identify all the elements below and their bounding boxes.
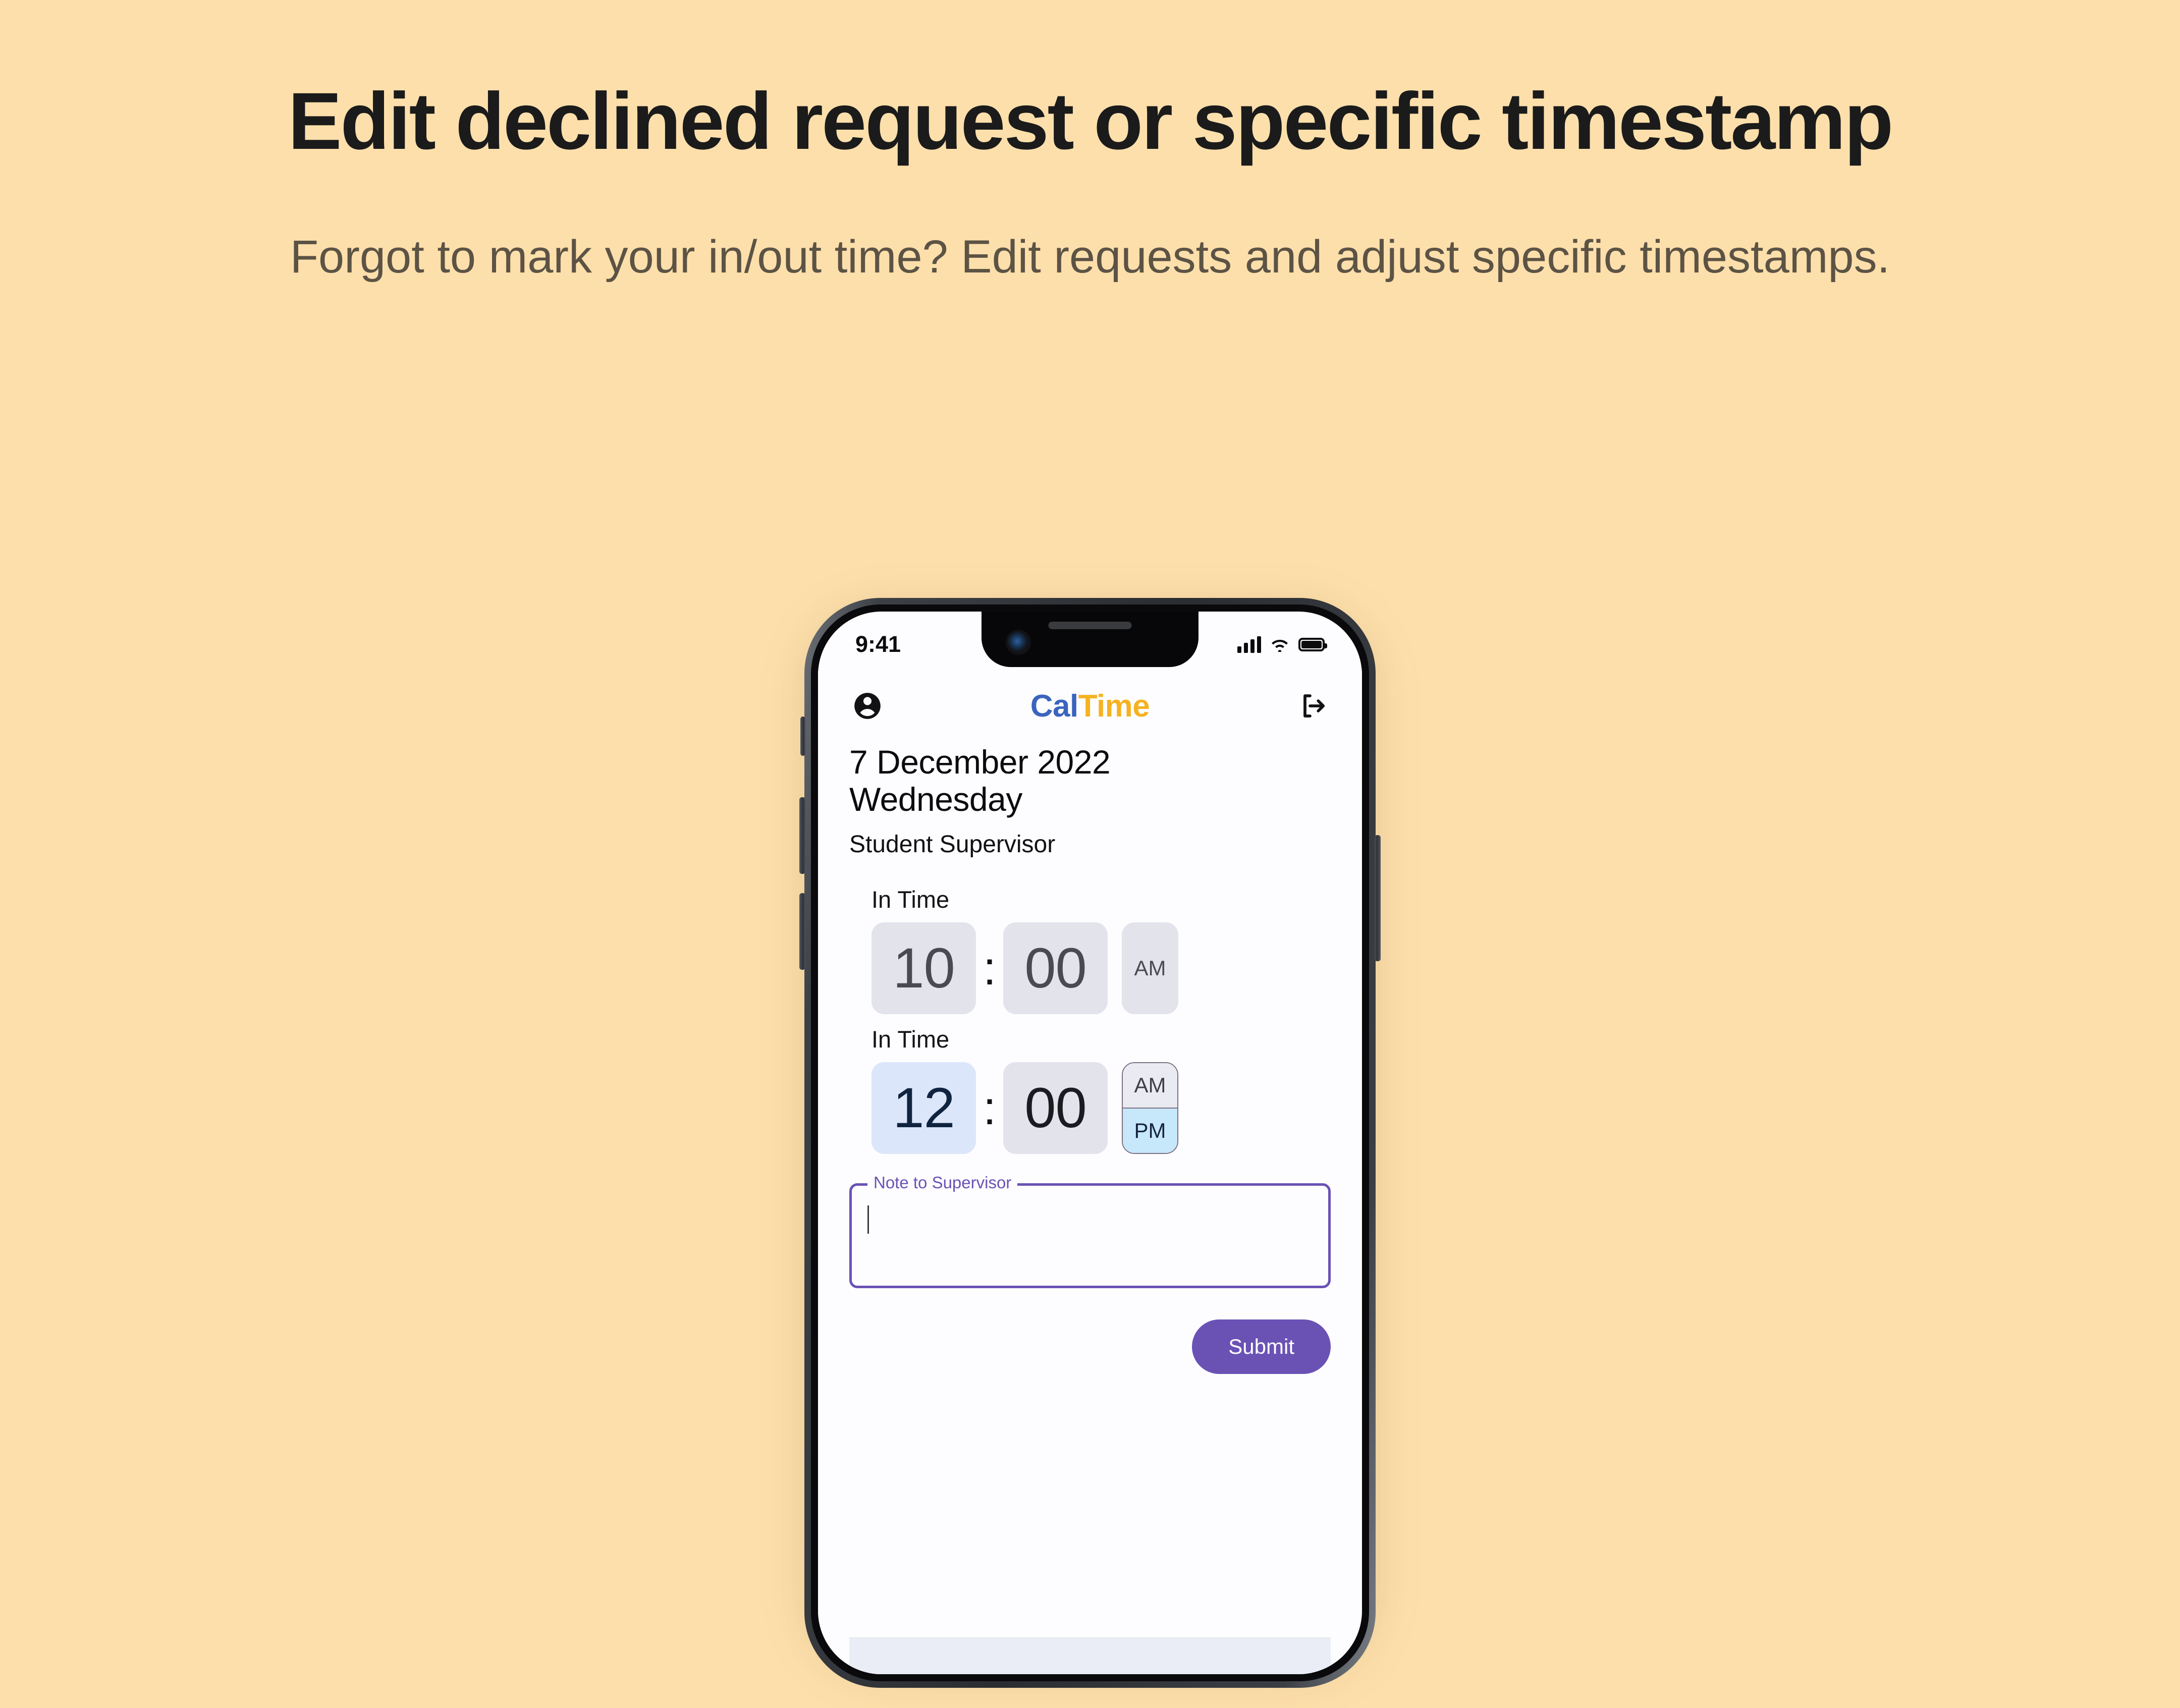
app-content: 7 December 2022 Wednesday Student Superv… [818, 744, 1362, 1674]
time-separator-2: : [976, 1089, 1003, 1127]
phone-mockup: 9:41 [804, 598, 1376, 1708]
hour-field-1[interactable]: 10 [871, 922, 976, 1014]
note-field-outline [849, 1183, 1331, 1288]
battery-full-icon [1298, 638, 1325, 651]
app-bar: CalTime [818, 668, 1362, 744]
time-entry-label-1: In Time [871, 886, 1331, 913]
phone-screen: 9:41 [818, 612, 1362, 1674]
logout-icon[interactable] [1294, 688, 1331, 724]
signal-bars-icon [1237, 636, 1261, 653]
time-picker-2: 12 : 00 AM PM [871, 1062, 1331, 1154]
status-bar: 9:41 [818, 612, 1362, 668]
meridiem-field-1[interactable]: AM [1122, 922, 1178, 1014]
account-circle-icon[interactable] [849, 688, 886, 724]
page-title: Edit declined request or specific timest… [192, 76, 1988, 166]
page-subtitle: Forgot to mark your in/out time? Edit re… [232, 226, 1948, 288]
power-button[interactable] [1375, 835, 1381, 961]
volume-up-button[interactable] [799, 797, 805, 874]
weekday-text: Wednesday [849, 781, 1331, 818]
phone-bezel: 9:41 [811, 604, 1369, 1681]
time-entry-row-1: In Time 10 : 00 AM [849, 886, 1331, 1014]
meridiem-option-am[interactable]: AM [1123, 1063, 1177, 1109]
submit-button[interactable]: Submit [1192, 1319, 1331, 1374]
meridiem-toggle-2: AM PM [1122, 1062, 1178, 1154]
promo-header: Edit declined request or specific timest… [0, 0, 2180, 288]
app-logo: CalTime [1030, 688, 1150, 724]
time-entry-row-2: In Time 12 : 00 AM PM [849, 1025, 1331, 1154]
bottom-nav-bar[interactable] [849, 1637, 1331, 1674]
phone-frame: 9:41 [804, 598, 1376, 1688]
role-text: Student Supervisor [849, 831, 1331, 858]
note-field-wrapper[interactable]: Note to Supervisor [849, 1183, 1331, 1288]
date-heading: 7 December 2022 Wednesday [849, 744, 1331, 818]
app-root: CalTime 7 December 2022 Wednesda [818, 668, 1362, 1674]
time-separator-1: : [976, 949, 1003, 987]
logo-time-text: Time [1078, 689, 1150, 724]
logo-cal-text: Cal [1030, 689, 1078, 724]
note-field-label: Note to Supervisor [867, 1173, 1017, 1192]
volume-down-button[interactable] [799, 893, 805, 970]
time-picker-1: 10 : 00 AM [871, 922, 1331, 1014]
minute-field-1[interactable]: 00 [1003, 922, 1108, 1014]
submit-row: Submit [849, 1319, 1331, 1374]
status-bar-time: 9:41 [855, 631, 901, 657]
meridiem-option-pm[interactable]: PM [1123, 1109, 1177, 1153]
minute-field-2[interactable]: 00 [1003, 1062, 1108, 1154]
text-cursor-icon [867, 1205, 869, 1234]
time-entry-label-2: In Time [871, 1025, 1331, 1053]
status-bar-icons [1237, 636, 1325, 653]
wifi-icon [1270, 637, 1290, 652]
hour-field-2[interactable]: 12 [871, 1062, 976, 1154]
date-text: 7 December 2022 [849, 744, 1331, 781]
silent-switch-button[interactable] [800, 717, 805, 756]
